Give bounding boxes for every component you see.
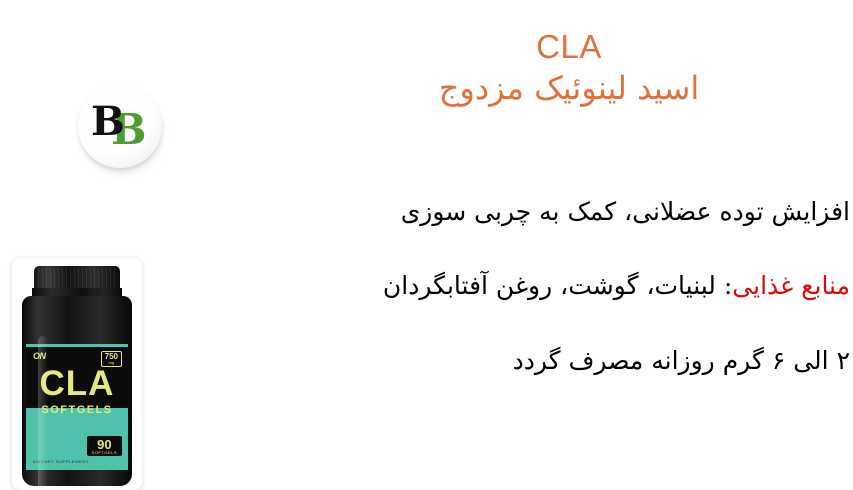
slide-canvas: B B CLA اسید لینوئیک مزدوج افزایش توده ع…: [0, 0, 853, 480]
paragraph-dosage: ۲ الی ۶ گرم روزانه مصرف گردد: [230, 345, 850, 376]
sources-label: منابع غذایی: [732, 271, 850, 300]
paragraph-sources: منابع غذایی: لبنیات، گوشت، روغن آفتابگرد…: [230, 270, 850, 301]
bottle-cap-ridges: [38, 268, 116, 288]
paragraph-benefits: افزایش توده عضلانی، کمک به چربی سوزی: [230, 196, 850, 227]
brand-logo: B B: [72, 82, 172, 178]
title-english: CLA: [285, 28, 853, 66]
bottle-highlight: [38, 336, 48, 486]
sources-value: : لبنیات، گوشت، روغن آفتابگردان: [383, 271, 732, 300]
logo-letter-dark: B: [91, 102, 123, 142]
bottle-body: ON 750 mg CLA SOFTGELS 90 SOFTGELS DIETA…: [22, 296, 132, 486]
logo-letters: B B: [78, 84, 162, 168]
count-unit: SOFTGELS: [92, 451, 117, 455]
product-bottle-image: ON 750 mg CLA SOFTGELS 90 SOFTGELS DIETA…: [12, 258, 142, 490]
logo-circle: B B: [78, 84, 162, 168]
title-block: CLA اسید لینوئیک مزدوج: [285, 28, 853, 110]
body-text-block: افزایش توده عضلانی، کمک به چربی سوزی منا…: [230, 196, 850, 376]
count-badge: 90 SOFTGELS: [87, 436, 122, 456]
title-persian: اسید لینوئیک مزدوج: [285, 68, 853, 110]
